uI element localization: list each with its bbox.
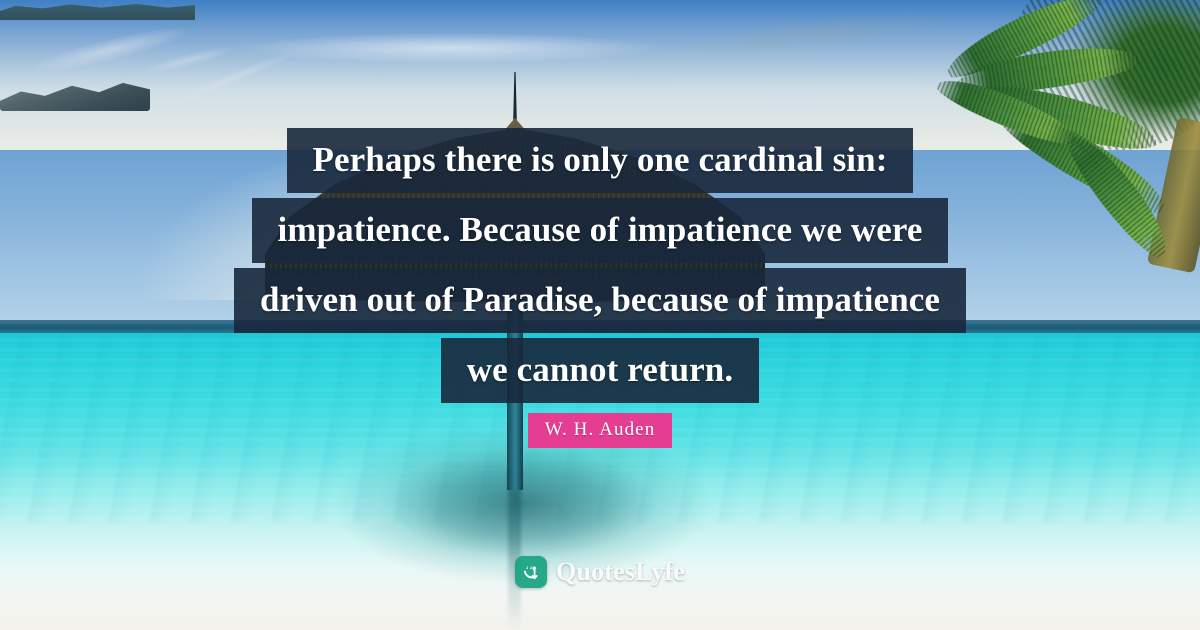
brand-name: QuotesLyfe <box>556 557 685 587</box>
author-attribution: W. H. Auden <box>0 413 1200 448</box>
quote-line: impatience. Because of impatience we wer… <box>252 198 949 263</box>
pole-reflection <box>508 470 521 630</box>
quote-line: driven out of Paradise, because of impat… <box>234 268 966 333</box>
author-name-badge[interactable]: W. H. Auden <box>528 413 673 448</box>
quote-line: we cannot return. <box>441 338 759 403</box>
foam-line <box>180 0 1080 120</box>
brand-logo[interactable]: QuotesLyfe <box>0 556 1200 588</box>
quote-smiley-icon <box>515 556 547 588</box>
quote-line: Perhaps there is only one cardinal sin: <box>287 128 914 193</box>
quote-card: Perhaps there is only one cardinal sin: … <box>0 0 1200 630</box>
quote-text: Perhaps there is only one cardinal sin: … <box>0 128 1200 408</box>
